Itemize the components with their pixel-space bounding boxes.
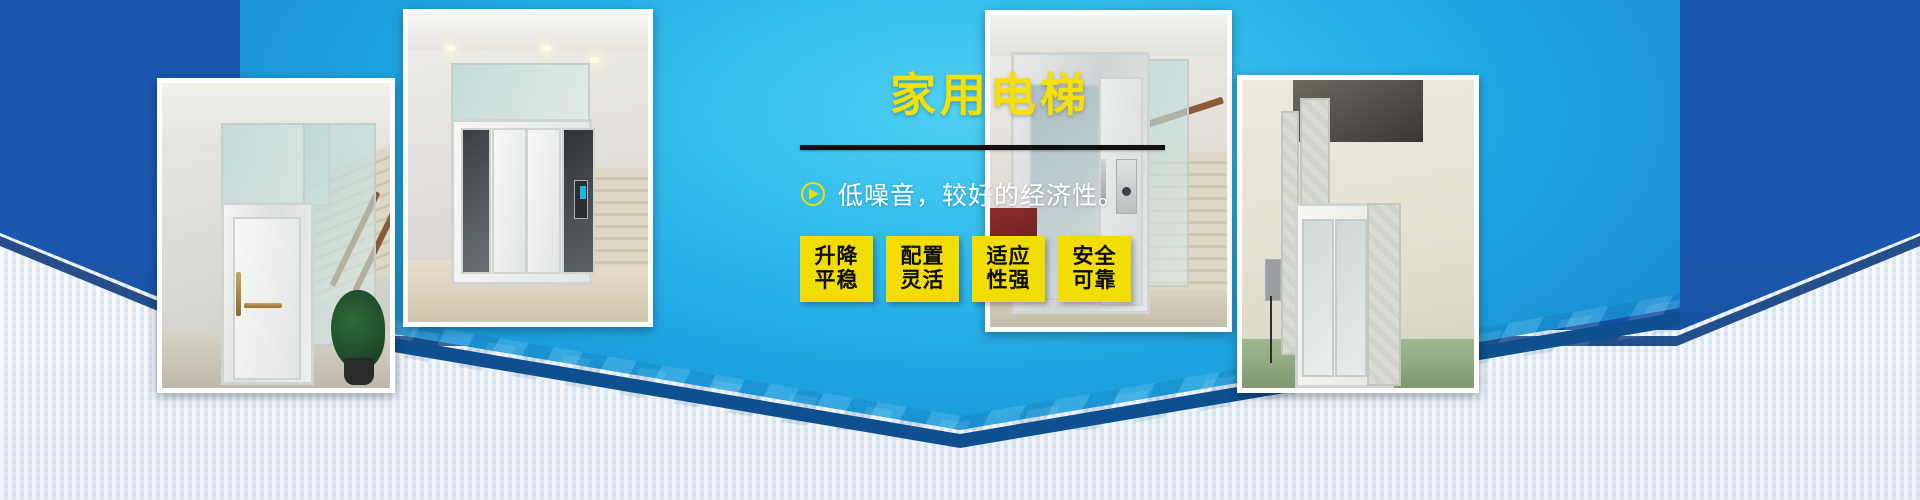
feature-badge[interactable]: 安全 可靠: [1058, 236, 1131, 302]
badge-line-2: 灵活: [901, 269, 945, 293]
badge-line-2: 平稳: [815, 269, 859, 293]
photo-home-elevator-white-cabin-lobby: [403, 9, 653, 327]
circled-play-arrow-icon: [800, 181, 826, 207]
badge-line-2: 可靠: [1073, 269, 1117, 293]
feature-badge[interactable]: 配置 灵活: [886, 236, 959, 302]
feature-badge-list: 升降 平稳 配置 灵活 适应 性强 安全 可靠: [800, 236, 1180, 302]
text-content-block: 家用电梯 低噪音，较好的经济性。 升降 平稳 配置 灵活 适应 性强: [800, 70, 1180, 302]
badge-line-2: 性强: [987, 269, 1031, 293]
home-elevator-banner: 家用电梯 低噪音，较好的经济性。 升降 平稳 配置 灵活 适应 性强: [0, 0, 1920, 500]
photo-home-elevator-installation-unfinished: [1237, 75, 1479, 393]
title-divider: [800, 145, 1165, 150]
badge-line-1: 适应: [987, 245, 1031, 269]
badge-line-1: 安全: [1073, 245, 1117, 269]
subtitle-text: 低噪音，较好的经济性。: [838, 176, 1124, 212]
badge-line-1: 配置: [901, 245, 945, 269]
photo-home-elevator-glass-shaft-stairs: [157, 78, 395, 393]
subtitle-row: 低噪音，较好的经济性。: [800, 176, 1180, 212]
badge-line-1: 升降: [815, 245, 859, 269]
feature-badge[interactable]: 适应 性强: [972, 236, 1045, 302]
page-title: 家用电梯: [800, 70, 1180, 121]
feature-badge[interactable]: 升降 平稳: [800, 236, 873, 302]
